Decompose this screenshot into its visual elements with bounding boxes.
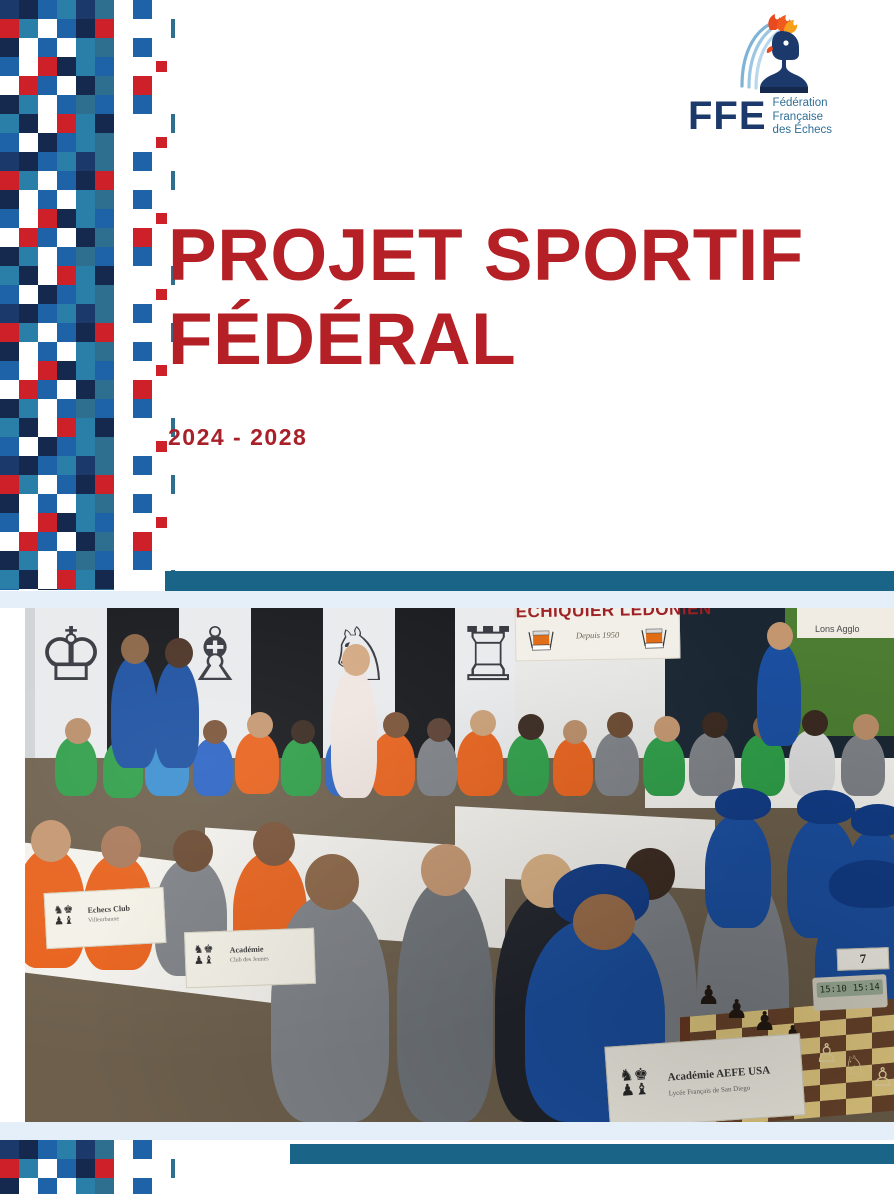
mosaic-square (0, 342, 19, 361)
light-band-top (0, 591, 894, 608)
mosaic-square (76, 418, 95, 437)
mosaic-square (156, 137, 167, 148)
mosaic-square (38, 418, 57, 437)
mosaic-square (57, 437, 76, 456)
mosaic-square (38, 38, 57, 57)
mosaic-square (76, 95, 95, 114)
mosaic-square (19, 551, 38, 570)
mosaic-square (95, 0, 114, 19)
king-icon: ♔ (35, 618, 107, 692)
photo-window-sign-text: Lons Agglo (815, 624, 860, 634)
mosaic-square (19, 266, 38, 285)
mosaic-square (76, 209, 95, 228)
mosaic-square (133, 190, 152, 209)
mosaic-square (133, 1178, 152, 1194)
mosaic-square (38, 513, 57, 532)
mosaic-square (95, 38, 114, 57)
ffe-full-name: Fédération Française des Échecs (773, 97, 832, 138)
mosaic-square (0, 418, 19, 437)
mosaic-square (133, 1140, 152, 1159)
light-band-bottom (0, 1122, 894, 1140)
mosaic-square (0, 190, 19, 209)
mosaic-square (38, 1140, 57, 1159)
mosaic-square (38, 475, 57, 494)
photo-chess-clock: 15:10 15:14 (812, 974, 888, 1011)
mosaic-square (19, 304, 38, 323)
mosaic-square (76, 1178, 95, 1194)
mosaic-square (38, 532, 57, 551)
mosaic-square (57, 570, 76, 589)
mosaic-square (38, 380, 57, 399)
mosaic-square (95, 266, 114, 285)
mosaic-square (95, 513, 114, 532)
chess-clock-display: 15:10 15:14 (816, 979, 883, 997)
mosaic-square (76, 342, 95, 361)
crest-left-icon (526, 626, 556, 655)
photo-name-card-right-line-2: Club des Jeunes (230, 956, 269, 963)
mosaic-square (95, 114, 114, 133)
mosaic-square (38, 361, 57, 380)
mosaic-square (38, 247, 57, 266)
title-line-2: FÉDÉRAL (168, 298, 818, 382)
mosaic-square (0, 437, 19, 456)
subtitle-years: 2024 - 2028 (168, 424, 307, 451)
mosaic-square (136, 554, 148, 566)
mosaic-square (133, 304, 152, 323)
mosaic-decoration-bottom (0, 1140, 175, 1194)
mosaic-square (0, 494, 19, 513)
mosaic-square (76, 399, 95, 418)
mosaic-square (19, 399, 38, 418)
mosaic-square (95, 285, 114, 304)
mosaic-square (38, 1178, 57, 1194)
mosaic-square (76, 152, 95, 171)
mosaic-square (19, 247, 38, 266)
mosaic-square (95, 437, 114, 456)
mosaic-square (0, 266, 19, 285)
mosaic-square (95, 190, 114, 209)
name-card-left-pieces-icon: ♞♚♟♝ (53, 905, 74, 928)
mosaic-square (76, 133, 95, 152)
mosaic-square (76, 513, 95, 532)
mosaic-square (38, 152, 57, 171)
mosaic-square (76, 171, 95, 190)
mosaic-square (38, 114, 57, 133)
mosaic-square (38, 19, 57, 38)
mosaic-square (95, 209, 114, 228)
photo-name-card-right: Académie Club des Jeunes ♞♚♟♝ (184, 928, 316, 989)
mosaic-square (57, 589, 76, 590)
mosaic-square (76, 114, 95, 133)
mosaic-square (57, 475, 76, 494)
ffe-logo: FFE Fédération Française des Échecs (688, 14, 870, 150)
mosaic-square (0, 475, 19, 494)
mosaic-square (19, 209, 38, 228)
mosaic-square (19, 171, 38, 190)
mosaic-square (133, 0, 152, 19)
mosaic-square (19, 570, 38, 589)
name-card-pieces-icon: ♞♚♟♝ (619, 1067, 650, 1099)
mosaic-square (0, 209, 19, 228)
mosaic-square (95, 1140, 114, 1159)
mosaic-square (156, 517, 167, 528)
mosaic-square (57, 361, 76, 380)
mosaic-square (76, 285, 95, 304)
mosaic-square (57, 95, 76, 114)
photo-name-card-main-line-1: Académie AEFE USA (667, 1064, 770, 1083)
mosaic-square (57, 266, 76, 285)
mosaic-square (95, 171, 114, 190)
ffe-name-line-3: des Échecs (773, 124, 832, 138)
mosaic-square (76, 266, 95, 285)
mosaic-square (76, 551, 95, 570)
photo-name-card-main-line-2: Lycée Français de San Diego (669, 1084, 751, 1098)
mosaic-square (19, 114, 38, 133)
mosaic-square (95, 133, 114, 152)
mosaic-square (57, 209, 76, 228)
photo-name-card-left-line-2: Villeurbanne (88, 916, 119, 924)
mosaic-square (19, 76, 38, 95)
mosaic-square (0, 399, 19, 418)
mosaic-square (0, 323, 19, 342)
mosaic-square (57, 532, 76, 551)
rook-icon: ♖ (455, 618, 515, 692)
mosaic-square (19, 152, 38, 171)
mosaic-square (76, 456, 95, 475)
page-title: PROJET SPORTIF FÉDÉRAL (168, 214, 818, 382)
mosaic-square (76, 228, 95, 247)
mosaic-square (133, 228, 152, 247)
mosaic-square (0, 76, 19, 95)
ffe-name-line-1: Fédération (773, 97, 832, 111)
mosaic-square (38, 399, 57, 418)
ffe-acronym: FFE (688, 96, 767, 136)
clock-time-left: 15:10 (820, 984, 848, 995)
mosaic-square (38, 494, 57, 513)
mosaic-square (57, 1178, 76, 1194)
mosaic-square (76, 1159, 95, 1178)
mosaic-square (95, 532, 114, 551)
mosaic-square (19, 361, 38, 380)
mosaic-square (76, 304, 95, 323)
mosaic-square (57, 38, 76, 57)
mosaic-square (76, 437, 95, 456)
mosaic-square (95, 152, 114, 171)
mosaic-square (133, 532, 152, 551)
mosaic-square (38, 266, 57, 285)
mosaic-square (19, 95, 38, 114)
mosaic-decoration-top (0, 0, 175, 590)
mosaic-square (38, 228, 57, 247)
mosaic-square (95, 1178, 114, 1194)
mosaic-square (38, 171, 57, 190)
mosaic-square (38, 133, 57, 152)
mosaic-square (95, 475, 114, 494)
mosaic-square (136, 402, 148, 414)
mosaic-square (0, 532, 19, 551)
mosaic-square (76, 76, 95, 95)
mosaic-square (19, 1178, 38, 1194)
mosaic-square (95, 361, 114, 380)
mosaic-square (19, 323, 38, 342)
mosaic-square (76, 380, 95, 399)
mosaic-square (76, 532, 95, 551)
clock-time-right: 15:14 (852, 982, 880, 993)
mosaic-square (76, 57, 95, 76)
mosaic-square (0, 95, 19, 114)
tournament-banner-title: ECHIQUIER LEDONIEN (515, 608, 678, 622)
mosaic-square (0, 513, 19, 532)
mosaic-square (19, 1159, 38, 1178)
cover-page: FFE Fédération Française des Échecs PROJ… (0, 0, 894, 1194)
mosaic-square (38, 342, 57, 361)
mosaic-square (57, 513, 76, 532)
mosaic-square (95, 570, 114, 589)
mosaic-square (38, 437, 57, 456)
mosaic-square (156, 441, 167, 452)
mosaic-square (0, 114, 19, 133)
mosaic-square (95, 247, 114, 266)
mosaic-square (38, 456, 57, 475)
mosaic-square (133, 76, 152, 95)
name-card-right-pieces-icon: ♞♚♟♝ (194, 944, 214, 967)
mosaic-square (38, 304, 57, 323)
mosaic-square (57, 247, 76, 266)
mosaic-square (19, 418, 38, 437)
mosaic-square (76, 190, 95, 209)
mosaic-square (76, 1140, 95, 1159)
mosaic-square (95, 399, 114, 418)
mosaic-square (19, 1140, 38, 1159)
mosaic-square (156, 365, 167, 376)
mosaic-square (19, 190, 38, 209)
mosaic-square (57, 323, 76, 342)
accent-bar-bottom (290, 1144, 894, 1164)
mosaic-square (95, 323, 114, 342)
mosaic-square (57, 399, 76, 418)
photo-name-card-left: Echecs Club Villeurbanne ♞♚♟♝ (44, 887, 167, 949)
mosaic-square (19, 513, 38, 532)
mosaic-square (0, 57, 19, 76)
mosaic-square (57, 76, 76, 95)
ffe-logo-mark-icon (726, 14, 822, 96)
mosaic-square (0, 1140, 19, 1159)
mosaic-square (76, 570, 95, 589)
mosaic-square (156, 61, 167, 72)
mosaic-square (19, 589, 38, 590)
mosaic-square (76, 0, 95, 19)
mosaic-square (95, 304, 114, 323)
mosaic-square (57, 133, 76, 152)
title-line-1: PROJET SPORTIF (168, 214, 818, 298)
mosaic-square (57, 0, 76, 19)
photo-table-number-card: 7 (837, 947, 890, 971)
tournament-banner: ECHIQUIER LEDONIEN Depuis 1950 (515, 608, 681, 661)
mosaic-square (95, 418, 114, 437)
mosaic-square (76, 494, 95, 513)
mosaic-square (133, 494, 152, 513)
mosaic-square (38, 285, 57, 304)
mosaic-square (38, 323, 57, 342)
mosaic-square (0, 1159, 19, 1178)
mosaic-square (95, 342, 114, 361)
mosaic-square (19, 494, 38, 513)
mosaic-square (38, 1159, 57, 1178)
mosaic-square (19, 19, 38, 38)
mosaic-square (19, 342, 38, 361)
mosaic-square (95, 1159, 114, 1178)
mosaic-square (19, 133, 38, 152)
photo-name-card-right-line-1: Académie (230, 945, 264, 955)
mosaic-square (0, 133, 19, 152)
mosaic-square (57, 228, 76, 247)
mosaic-square (19, 380, 38, 399)
mosaic-square (95, 228, 114, 247)
mosaic-square (57, 190, 76, 209)
mosaic-square (19, 38, 38, 57)
mosaic-square (0, 589, 19, 590)
mosaic-square (76, 19, 95, 38)
mosaic-square (171, 114, 175, 133)
mosaic-square (133, 38, 152, 57)
ffe-name-line-2: Française (773, 111, 832, 125)
mosaic-square (19, 456, 38, 475)
mosaic-square (19, 532, 38, 551)
mosaic-square (0, 228, 19, 247)
mosaic-square (95, 57, 114, 76)
mosaic-square (38, 589, 57, 590)
mosaic-square (0, 171, 19, 190)
mosaic-square (76, 38, 95, 57)
mosaic-square (57, 342, 76, 361)
mosaic-square (133, 380, 152, 399)
mosaic-square (76, 323, 95, 342)
mosaic-square (57, 304, 76, 323)
accent-bar-top (165, 571, 894, 591)
mosaic-square (95, 456, 114, 475)
mosaic-square (19, 228, 38, 247)
photo-name-card-left-line-1: Echecs Club (87, 904, 130, 915)
mosaic-square (76, 247, 95, 266)
mosaic-square (0, 361, 19, 380)
mosaic-square (76, 361, 95, 380)
mosaic-square (95, 551, 114, 570)
cover-photo: ♔ ♗ ♘ ♖ ECHIQUIER LEDONIEN Depuis 1950 (25, 608, 894, 1122)
mosaic-square (95, 95, 114, 114)
mosaic-square (0, 0, 19, 19)
mosaic-square (95, 494, 114, 513)
mosaic-square (0, 551, 19, 570)
mosaic-square (38, 551, 57, 570)
mosaic-square (133, 152, 152, 171)
mosaic-square (0, 38, 19, 57)
mosaic-square (57, 456, 76, 475)
crest-right-icon (639, 624, 669, 653)
mosaic-square (76, 589, 95, 590)
mosaic-square (156, 289, 167, 300)
mosaic-square (57, 152, 76, 171)
mosaic-square (0, 152, 19, 171)
mosaic-square (19, 475, 38, 494)
mosaic-square (57, 380, 76, 399)
mosaic-square (38, 570, 57, 589)
mosaic-square (38, 0, 57, 19)
mosaic-square (57, 1159, 76, 1178)
mosaic-square (38, 209, 57, 228)
mosaic-square (76, 475, 95, 494)
mosaic-square (95, 76, 114, 95)
mosaic-square (0, 570, 19, 589)
mosaic-square (0, 1178, 19, 1194)
mosaic-square (57, 114, 76, 133)
mosaic-square (57, 171, 76, 190)
mosaic-square (38, 76, 57, 95)
mosaic-square (0, 380, 19, 399)
photo-name-card-main: Académie AEFE USA Lycée Français de San … (604, 1033, 805, 1122)
mosaic-square (133, 456, 152, 475)
mosaic-square (57, 551, 76, 570)
mosaic-square (38, 57, 57, 76)
mosaic-square (19, 0, 38, 19)
mosaic-square (0, 456, 19, 475)
mosaic-square (95, 19, 114, 38)
mosaic-square (156, 213, 167, 224)
mosaic-square (136, 250, 148, 262)
mosaic-square (136, 98, 148, 110)
mosaic-square (95, 380, 114, 399)
mosaic-square (38, 190, 57, 209)
mosaic-square (0, 304, 19, 323)
mosaic-square (0, 247, 19, 266)
mosaic-square (57, 418, 76, 437)
mosaic-square (57, 1140, 76, 1159)
mosaic-square (57, 285, 76, 304)
mosaic-square (19, 57, 38, 76)
mosaic-square (19, 437, 38, 456)
ffe-wordmark: FFE Fédération Française des Échecs (688, 96, 870, 150)
mosaic-square (57, 19, 76, 38)
mosaic-square (57, 57, 76, 76)
mosaic-square (133, 342, 152, 361)
mosaic-square (95, 589, 114, 590)
mosaic-square (0, 19, 19, 38)
mosaic-square (57, 494, 76, 513)
mosaic-square (19, 285, 38, 304)
mosaic-square (38, 95, 57, 114)
mosaic-square (0, 285, 19, 304)
